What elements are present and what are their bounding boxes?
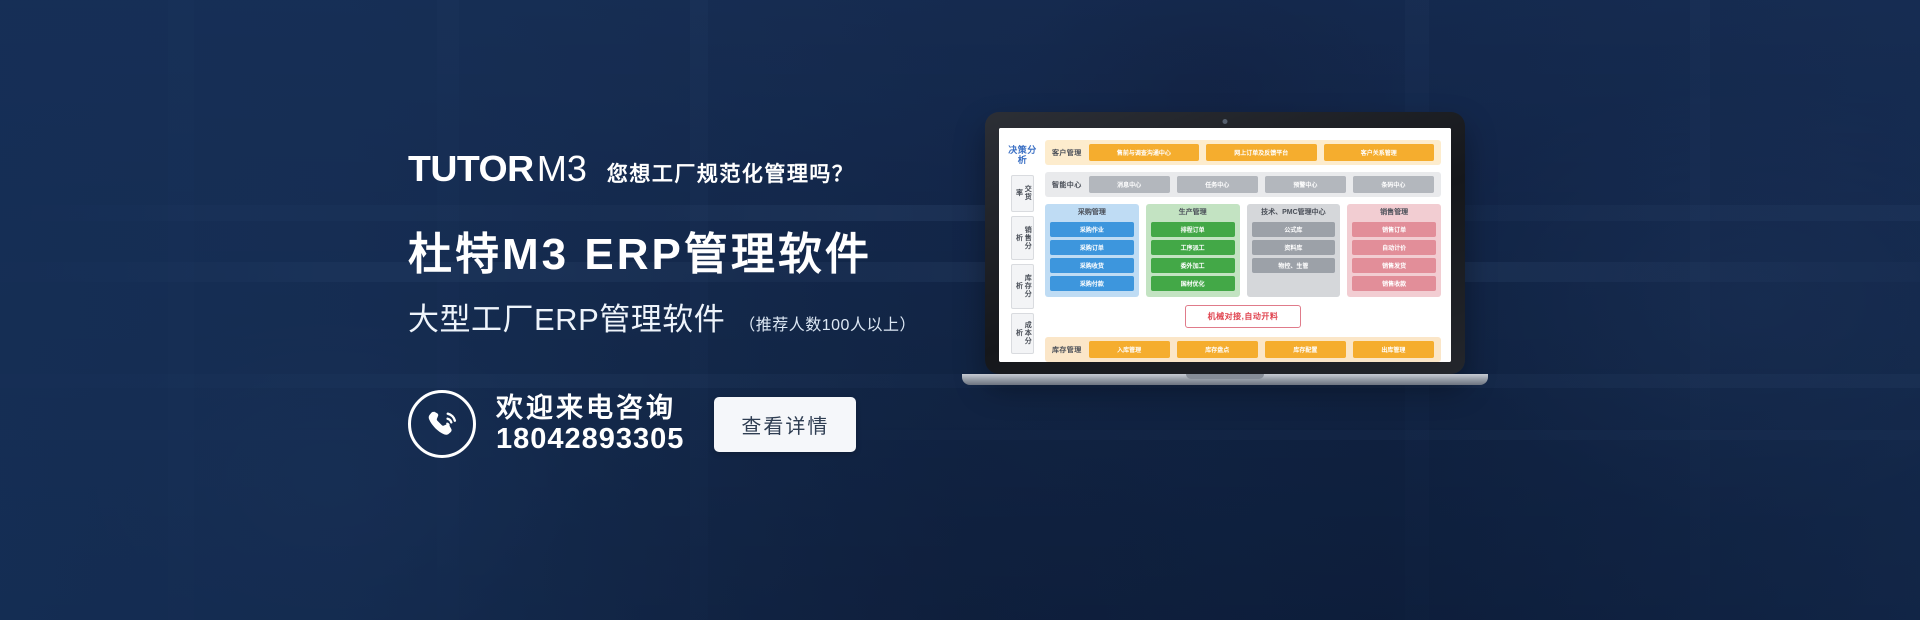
- erp-column-item: 采购订单: [1050, 240, 1134, 255]
- laptop-mockup: 决策分析 交货率 销售分析 库存分析 成本分析 客户管理 售前与调查沟通中心 网: [985, 112, 1465, 392]
- erp-chip: 条码中心: [1353, 176, 1434, 193]
- erp-rail-cell: 销售分析: [1011, 216, 1035, 260]
- erp-rail-cell: 库存分析: [1011, 264, 1035, 308]
- erp-column-title: 技术、PMC管理中心: [1252, 208, 1336, 219]
- erp-rail-heading: 决策分析: [1007, 142, 1038, 171]
- promo-banner: TUTOR M3 您想工厂规范化管理吗？ 杜特M3 ERP管理软件 大型工厂ER…: [0, 0, 1920, 620]
- subtitle-note: （推荐人数100人以上）: [739, 311, 916, 335]
- erp-chip: 预警中心: [1265, 176, 1346, 193]
- banner-content: TUTOR M3 您想工厂规范化管理吗？ 杜特M3 ERP管理软件 大型工厂ER…: [0, 0, 1920, 620]
- erp-columns: 采购管理 采购作业 采购订单 采购收货 采购付款 生产管理 排程订单 工序派工: [1045, 204, 1441, 297]
- erp-row-customer: 客户管理 售前与调查沟通中心 网上订单及反馈平台 客户关系管理: [1045, 140, 1441, 165]
- erp-column-item: 销售订单: [1352, 222, 1436, 237]
- erp-column-item: 采购作业: [1050, 222, 1134, 237]
- cta-row: 欢迎来电咨询 18042893305 查看详情: [408, 390, 856, 458]
- laptop-lid: 决策分析 交货率 销售分析 库存分析 成本分析 客户管理 售前与调查沟通中心 网: [985, 112, 1465, 374]
- erp-column-title: 生产管理: [1151, 208, 1235, 219]
- erp-chip: 客户关系管理: [1324, 144, 1434, 161]
- erp-column-item: 自动计价: [1352, 240, 1436, 255]
- erp-column-item: 工序派工: [1151, 240, 1235, 255]
- erp-main: 客户管理 售前与调查沟通中心 网上订单及反馈平台 客户关系管理 智能中心 消息中…: [1038, 140, 1441, 354]
- erp-column-item: 公式库: [1252, 222, 1336, 237]
- brand-name-m3: M3: [537, 148, 587, 190]
- erp-chip: 库存配置: [1265, 341, 1346, 358]
- laptop-screen: 决策分析 交货率 销售分析 库存分析 成本分析 客户管理 售前与调查沟通中心 网: [999, 128, 1451, 362]
- erp-rail-cell: 交货率: [1011, 175, 1035, 212]
- erp-chip: 库存盘点: [1177, 341, 1258, 358]
- erp-rail: 决策分析 交货率 销售分析 库存分析 成本分析: [1007, 140, 1038, 354]
- erp-highlight-note: 机械对接,自动开料: [1185, 305, 1302, 328]
- phone-ring-icon: [408, 390, 476, 458]
- erp-chip: 网上订单及反馈平台: [1206, 144, 1316, 161]
- erp-column-item: 销售发货: [1352, 258, 1436, 273]
- phone-welcome-label: 欢迎来电咨询: [496, 393, 684, 423]
- laptop-notch: [1186, 374, 1264, 379]
- erp-column-item: 国材优化: [1151, 276, 1235, 291]
- erp-column-purchasing: 采购管理 采购作业 采购订单 采购收货 采购付款: [1045, 204, 1139, 297]
- erp-column-item: 资料库: [1252, 240, 1336, 255]
- erp-highlight-wrap: 机械对接,自动开料: [1045, 304, 1441, 330]
- erp-chip: 入库管理: [1089, 341, 1170, 358]
- erp-row-inventory: 库存管理 入库管理 库存盘点 库存配置 出库管理: [1045, 337, 1441, 362]
- erp-chip: 售前与调查沟通中心: [1089, 144, 1199, 161]
- laptop-camera-icon: [1223, 119, 1228, 124]
- subtitle-text: 大型工厂ERP管理软件: [408, 294, 725, 339]
- erp-rail-cell: 成本分析: [1011, 313, 1035, 354]
- page-title: 杜特M3 ERP管理软件: [408, 218, 872, 282]
- brand-logo-row: TUTOR M3 您想工厂规范化管理吗？: [408, 148, 854, 190]
- erp-column-sales: 销售管理 销售订单 自动计价 销售发货 销售收款: [1347, 204, 1441, 297]
- erp-column-title: 采购管理: [1050, 208, 1134, 219]
- erp-column-item: 物控、生管: [1252, 258, 1336, 273]
- erp-column-item: 排程订单: [1151, 222, 1235, 237]
- phone-text-block: 欢迎来电咨询 18042893305: [496, 393, 684, 456]
- brand-tagline: 您想工厂规范化管理吗？: [607, 158, 855, 188]
- subtitle-row: 大型工厂ERP管理软件 （推荐人数100人以上）: [408, 294, 916, 339]
- erp-column-production: 生产管理 排程订单 工序派工 委外加工 国材优化: [1146, 204, 1240, 297]
- erp-column-item: 销售收款: [1352, 276, 1436, 291]
- erp-diagram: 决策分析 交货率 销售分析 库存分析 成本分析 客户管理 售前与调查沟通中心 网: [999, 128, 1451, 362]
- erp-row-smart-center: 智能中心 消息中心 任务中心 预警中心 条码中心: [1045, 172, 1441, 197]
- erp-column-title: 销售管理: [1352, 208, 1436, 219]
- erp-chip: 消息中心: [1089, 176, 1170, 193]
- erp-column-item: 采购收货: [1050, 258, 1134, 273]
- erp-row-label: 客户管理: [1052, 148, 1082, 158]
- erp-column-tech-pmc: 技术、PMC管理中心 公式库 资料库 物控、生管: [1247, 204, 1341, 297]
- phone-number[interactable]: 18042893305: [496, 423, 684, 455]
- erp-chip: 任务中心: [1177, 176, 1258, 193]
- erp-row-label: 智能中心: [1052, 180, 1082, 190]
- erp-column-item: 采购付款: [1050, 276, 1134, 291]
- erp-row-label: 库存管理: [1052, 345, 1082, 355]
- erp-column-item: 委外加工: [1151, 258, 1235, 273]
- erp-chip: 出库管理: [1353, 341, 1434, 358]
- brand-name-tutor: TUTOR: [408, 148, 534, 190]
- view-details-button[interactable]: 查看详情: [714, 397, 856, 452]
